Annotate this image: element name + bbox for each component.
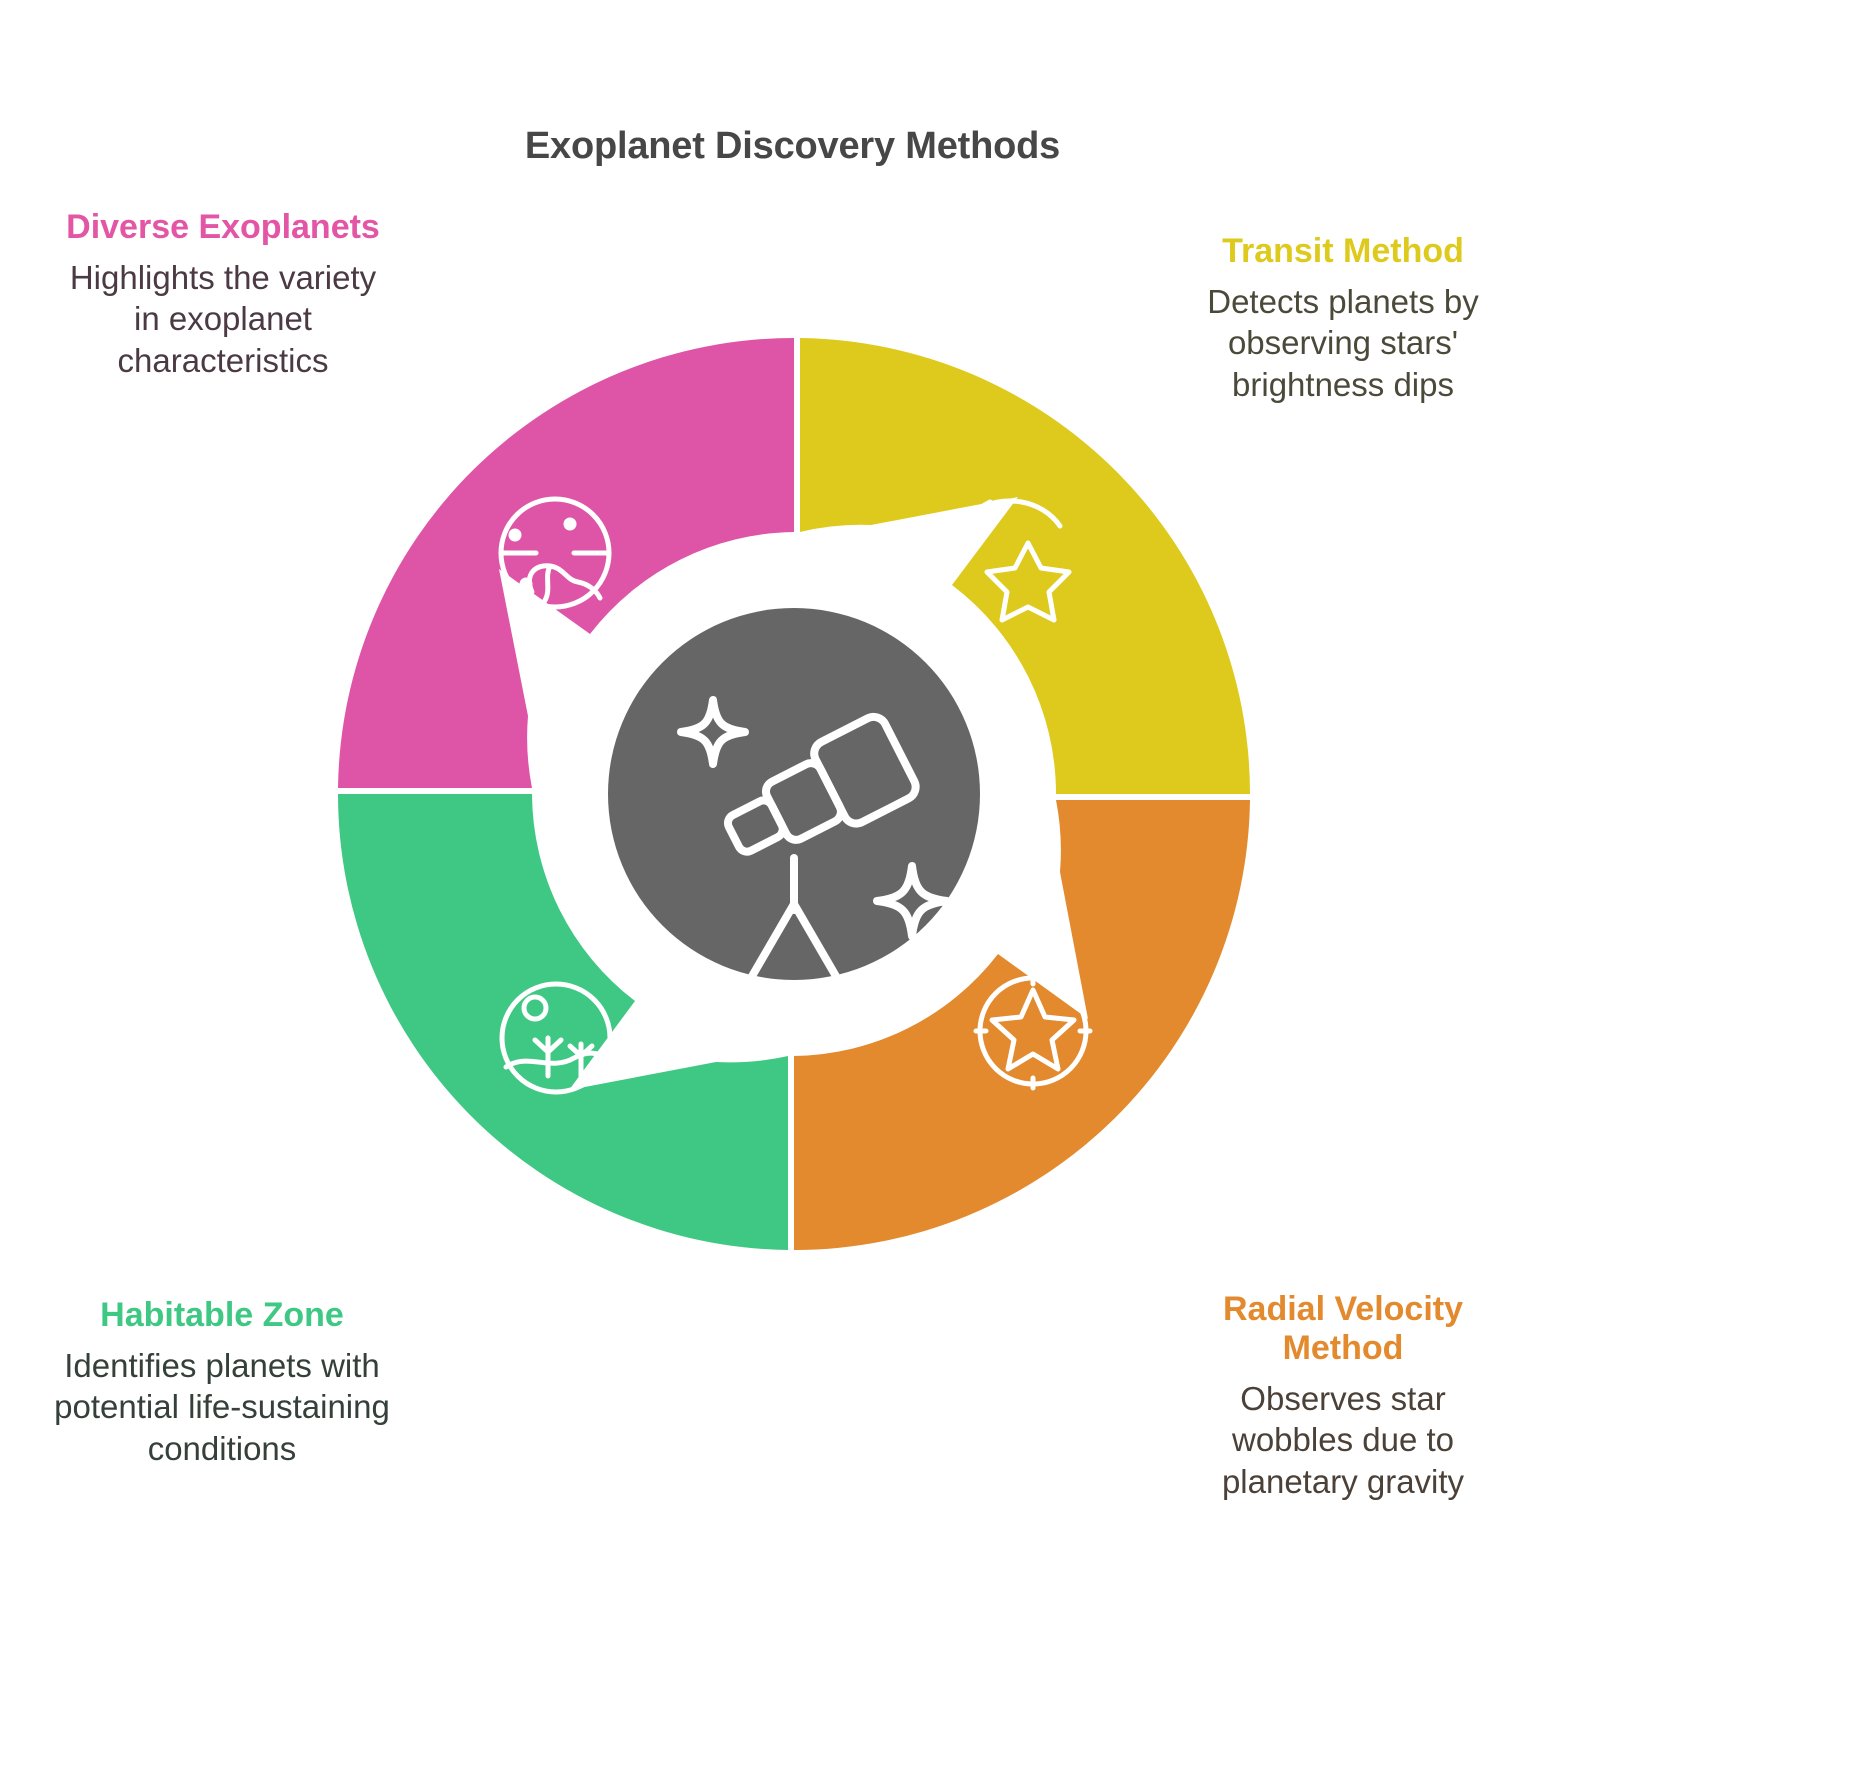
label-block-radial-velocity-method[interactable]: Radial Velocity Method Observes star wob… xyxy=(1176,1290,1510,1502)
infographic-canvas: Exoplanet Discovery Methods xyxy=(0,0,1850,1775)
label-block-transit-method[interactable]: Transit Method Detects planets by observ… xyxy=(1178,232,1508,405)
label-block-diverse-exoplanets[interactable]: Diverse Exoplanets Highlights the variet… xyxy=(58,208,388,381)
label-body-transit-method: Detects planets by observing stars' brig… xyxy=(1178,281,1508,406)
label-heading-diverse-exoplanets: Diverse Exoplanets xyxy=(58,208,388,247)
label-heading-transit-method: Transit Method xyxy=(1178,232,1508,271)
donut-svg xyxy=(338,338,1250,1250)
label-heading-radial-velocity-method: Radial Velocity Method xyxy=(1176,1290,1510,1368)
label-body-radial-velocity-method: Observes star wobbles due to planetary g… xyxy=(1176,1378,1510,1503)
label-body-habitable-zone: Identifies planets with potential life-s… xyxy=(52,1345,392,1470)
hub-circle[interactable] xyxy=(608,608,980,980)
label-block-habitable-zone[interactable]: Habitable Zone Identifies planets with p… xyxy=(52,1296,392,1469)
label-body-diverse-exoplanets: Highlights the variety in exoplanet char… xyxy=(58,257,388,382)
page-title: Exoplanet Discovery Methods xyxy=(0,125,1585,168)
donut-diagram xyxy=(338,338,1250,1250)
label-heading-habitable-zone: Habitable Zone xyxy=(52,1296,392,1335)
